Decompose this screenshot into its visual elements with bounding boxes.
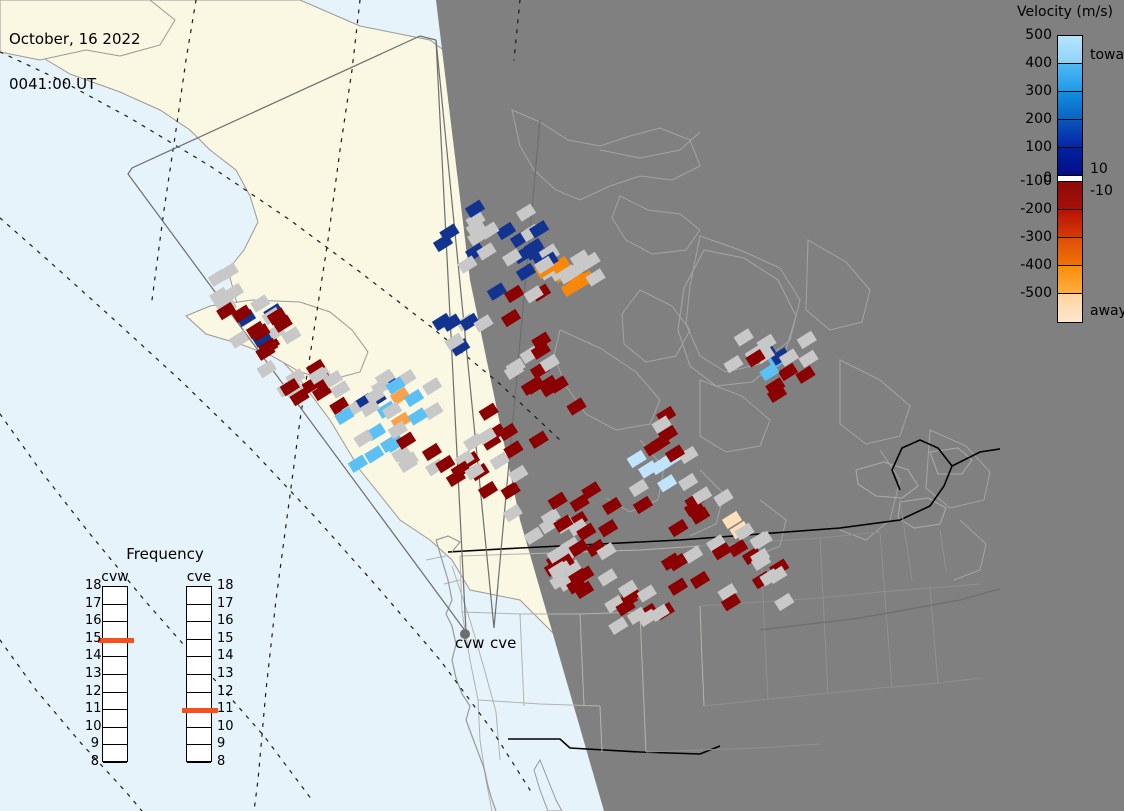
frequency-tick-label: 14: [217, 651, 234, 661]
frequency-tick-label: 15: [217, 634, 234, 644]
colorbar-tick-label: 500: [1025, 27, 1052, 43]
frequency-tick-label: 12: [85, 687, 99, 697]
title-date: October, 16 2022: [9, 32, 141, 47]
frequency-tick-label: 14: [85, 651, 99, 661]
colorbar-tick-label: -500: [1020, 285, 1052, 301]
frequency-segment: [103, 710, 127, 728]
frequency-segment: [187, 605, 211, 623]
frequency-segment: [187, 622, 211, 640]
frequency-segment: [103, 675, 127, 693]
colorbar-swatch: [1058, 64, 1082, 92]
radar-site-label: cve: [490, 634, 516, 652]
frequency-tick-label: 8: [217, 757, 225, 767]
frequency-column-cvw: cvw18171615141312111098: [85, 569, 145, 762]
colorbar-swatch: [1058, 266, 1082, 294]
frequency-tick-label: 18: [85, 581, 99, 591]
frequency-segment: [103, 728, 127, 746]
colorbar-tick-label: -200: [1020, 201, 1052, 217]
colorbar-tick-label: 100: [1025, 139, 1052, 155]
frequency-bar[interactable]: [186, 586, 212, 762]
colorbar-away-label: away: [1090, 303, 1124, 319]
colorbar-swatch: [1058, 36, 1082, 64]
frequency-tick-label: 15: [85, 634, 99, 644]
colorbar-swatch: [1058, 148, 1082, 176]
colorbar-tick-label: -400: [1020, 257, 1052, 273]
frequency-segment: [187, 745, 211, 763]
colorbar-neg-threshold-label: -10: [1090, 183, 1113, 199]
frequency-column-cve: cve18171615141312111098: [169, 569, 229, 762]
colorbar-swatch: [1058, 238, 1082, 266]
colorbar-tick-label: 400: [1025, 55, 1052, 71]
title-time: 0041:00 UT: [9, 77, 141, 92]
colorbar-title: Velocity (m/s): [1006, 4, 1124, 20]
frequency-tick-label: 10: [85, 722, 99, 732]
superdarn-fan-plot: cvwcve October, 16 2022 0041:00 UT Veloc…: [0, 0, 1124, 811]
frequency-marker: [98, 638, 134, 643]
colorbar-swatch: [1058, 294, 1082, 322]
frequency-tick-label: 10: [217, 722, 234, 732]
frequency-segment: [103, 657, 127, 675]
frequency-tick-label: 8: [85, 757, 99, 767]
colorbar-tick-label: -100: [1020, 173, 1052, 189]
velocity-colorbar: Velocity (m/s) 5004003002001000-100-200-…: [1000, 0, 1124, 811]
frequency-tick-label: 12: [217, 687, 234, 697]
radar-site-label: cvw: [455, 634, 484, 652]
frequency-segment: [103, 745, 127, 763]
frequency-segment: [187, 640, 211, 658]
colorbar-pos-threshold-label: 10: [1090, 161, 1108, 177]
colorbar-toward-label: toward: [1090, 47, 1124, 63]
colorbar-swatch: [1058, 92, 1082, 120]
frequency-bar[interactable]: [102, 586, 128, 762]
frequency-marker: [182, 708, 218, 713]
frequency-segment: [187, 728, 211, 746]
frequency-tick-label: 9: [85, 739, 99, 749]
colorbar-swatch: [1058, 120, 1082, 148]
page-title: October, 16 2022 0041:00 UT: [9, 2, 141, 122]
frequency-tick-label: 11: [85, 704, 99, 714]
colorbar-strip[interactable]: [1057, 35, 1083, 323]
frequency-tick-label: 18: [217, 581, 234, 591]
frequency-segment: [103, 587, 127, 605]
colorbar-tick-label: 300: [1025, 83, 1052, 99]
frequency-tick-label: 17: [217, 599, 234, 609]
frequency-tick-label: 11: [217, 704, 234, 714]
frequency-segment: [187, 675, 211, 693]
frequency-tick-label: 9: [217, 739, 225, 749]
frequency-segment: [187, 587, 211, 605]
colorbar-tick-label: 200: [1025, 111, 1052, 127]
frequency-panel: Frequency cvw18171615141312111098cve1817…: [85, 545, 245, 790]
frequency-tick-label: 13: [217, 669, 234, 679]
colorbar-tick-label: -300: [1020, 229, 1052, 245]
frequency-segment: [187, 657, 211, 675]
frequency-tick-label: 16: [85, 616, 99, 626]
frequency-segment: [103, 693, 127, 711]
frequency-tick-label: 13: [85, 669, 99, 679]
colorbar-swatch: [1058, 182, 1082, 210]
frequency-segment: [103, 605, 127, 623]
colorbar-swatch: [1058, 210, 1082, 238]
frequency-tick-label: 17: [85, 599, 99, 609]
frequency-title: Frequency: [85, 545, 245, 563]
frequency-tick-label: 16: [217, 616, 234, 626]
